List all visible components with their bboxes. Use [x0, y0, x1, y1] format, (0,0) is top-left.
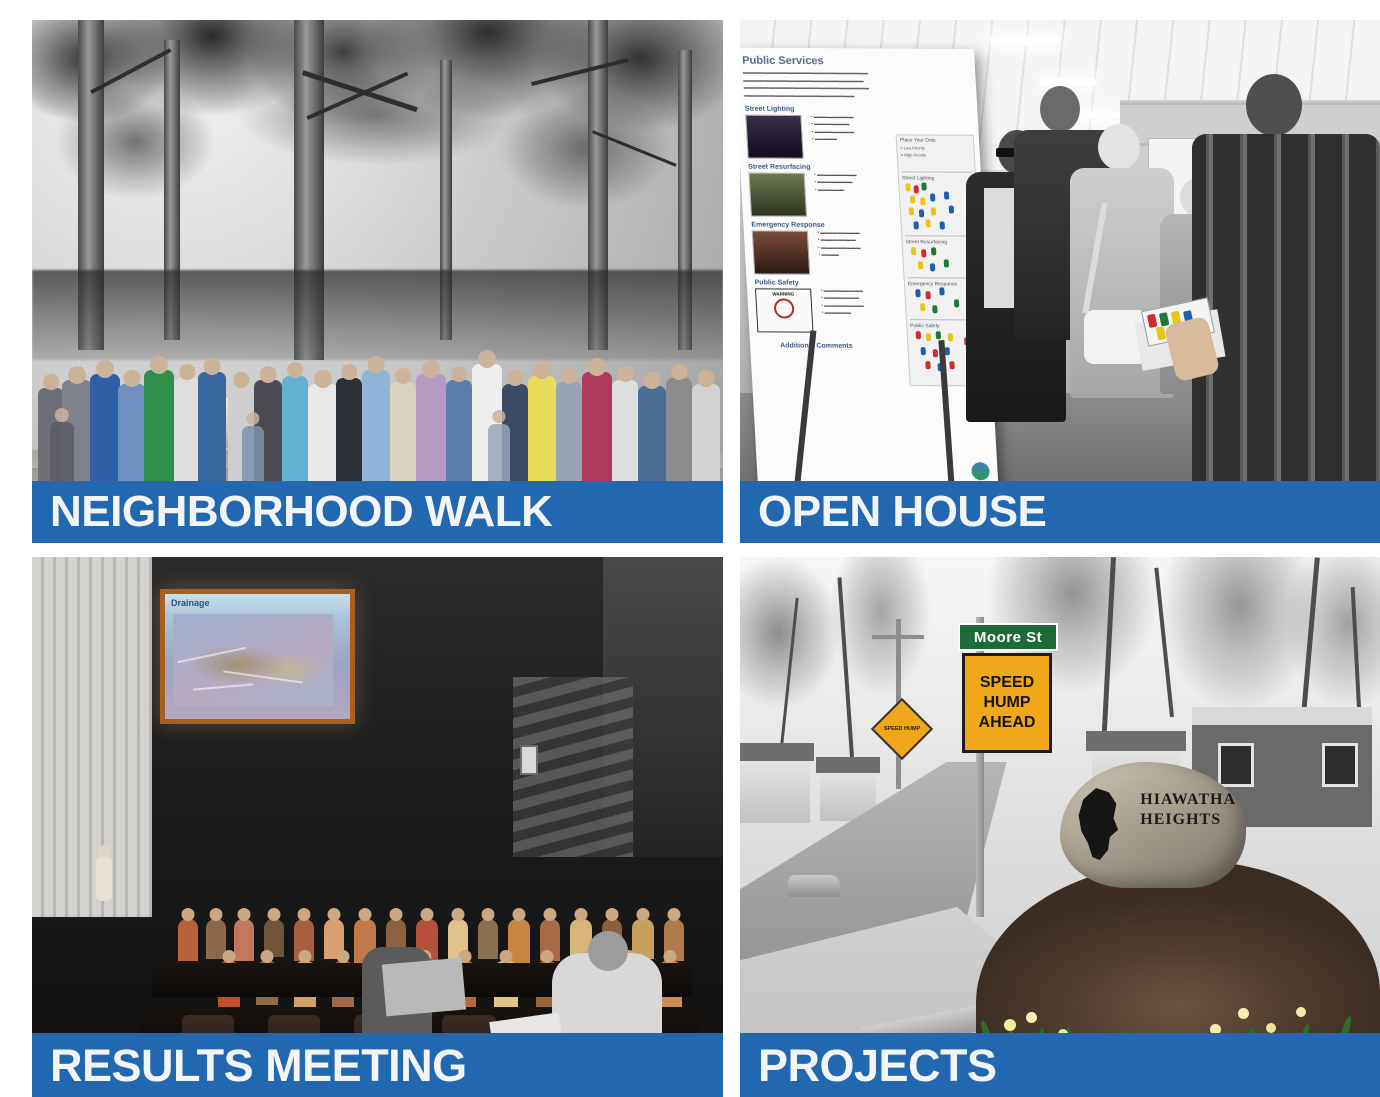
crowd-of-residents	[32, 316, 723, 496]
vote-dot	[933, 349, 938, 357]
audience-member	[178, 919, 198, 961]
window	[1218, 743, 1254, 787]
photo-neighborhood-walk	[32, 20, 723, 543]
house-roof	[1086, 731, 1186, 751]
caption-bar-neighborhood-walk: NEIGHBORHOOD WALK	[32, 481, 723, 543]
diamond-sign-label: SPEED HUMP	[882, 709, 922, 749]
caption-label: PROJECTS	[758, 1043, 997, 1088]
poster-title: Public Services	[742, 55, 975, 68]
house-roof	[816, 757, 880, 773]
vote-dot	[911, 247, 916, 255]
vote-dot	[932, 305, 937, 313]
section-thumbnail	[748, 173, 807, 217]
person	[582, 372, 612, 496]
vote-dot	[921, 347, 926, 355]
person	[666, 378, 692, 496]
map-line	[178, 647, 247, 664]
audience-member	[234, 919, 254, 961]
panel-neighborhood-walk[interactable]: NEIGHBORHOOD WALK	[32, 20, 723, 543]
person	[90, 374, 120, 496]
sign-line-1: SPEED	[980, 673, 1034, 693]
section-bullets: • ▬▬▬▬▬▬▬▬▬• ▬▬▬▬▬▬▬▬• ▬▬▬▬▬▬	[814, 171, 905, 194]
monument-inscription: HIAWATHA HEIGHTS	[1140, 790, 1236, 830]
vote-dot	[936, 331, 941, 339]
person	[556, 382, 582, 496]
divider	[905, 235, 975, 236]
panel-projects[interactable]: HIAWATHA HEIGHTS Moore St SPEED HUMP AHE…	[740, 557, 1380, 1097]
attendee-head	[1040, 86, 1080, 132]
caption-bar-projects: PROJECTS	[740, 1033, 1380, 1097]
sign-line-3: AHEAD	[979, 713, 1036, 733]
vote-dot	[931, 207, 936, 215]
vote-dot	[949, 206, 954, 214]
daffodil	[1026, 1012, 1037, 1023]
vote-dot	[925, 219, 930, 227]
section-thumbnail	[745, 115, 804, 159]
vote-dot	[913, 221, 918, 229]
sticker-red	[1147, 314, 1158, 328]
sticker-green	[1159, 312, 1170, 326]
divider	[902, 171, 972, 172]
handout-paper	[382, 958, 466, 1017]
vote-dot	[930, 193, 935, 201]
house	[740, 757, 810, 823]
monument-line-1: HIAWATHA	[1140, 790, 1236, 810]
section-bullets: • ▬▬▬▬▬▬▬▬▬• ▬▬▬▬▬▬▬▬• ▬▬▬▬▬▬▬▬▬• ▬▬▬▬▬	[811, 113, 903, 143]
native-american-profile-icon	[1074, 788, 1120, 860]
dot-legend-title: Place Your Dots	[900, 137, 973, 143]
ceiling-light	[1076, 112, 1120, 119]
person	[612, 380, 638, 496]
vote-dot	[909, 207, 914, 215]
foreground-attendee-head	[588, 931, 628, 971]
section-bullets: • ▬▬▬▬▬▬▬▬▬• ▬▬▬▬▬▬▬▬• ▬▬▬▬▬▬▬▬▬• ▬▬▬▬	[817, 229, 909, 259]
vote-dot	[931, 247, 936, 255]
map-line	[193, 683, 253, 690]
street-name-sign: Moore St	[958, 623, 1058, 651]
vote-dot	[939, 287, 944, 295]
vote-dot	[916, 331, 921, 339]
wall-panel	[520, 745, 538, 775]
projection-screen: Drainage	[165, 594, 350, 719]
photo-projects: HIAWATHA HEIGHTS Moore St SPEED HUMP AHE…	[740, 557, 1380, 1097]
speed-hump-ahead-sign: SPEED HUMP AHEAD	[962, 653, 1052, 753]
person	[638, 386, 666, 496]
photo-open-house: Public Services ▬▬▬▬▬▬▬▬▬▬▬▬▬▬▬▬▬▬▬▬▬▬▬▬…	[740, 20, 1380, 543]
parked-car	[788, 875, 840, 897]
slide-map-graphic	[173, 614, 333, 706]
monument-line-2: HEIGHTS	[1140, 810, 1236, 830]
dot-row-label: Street Resurfacing	[905, 239, 947, 245]
vote-dot	[954, 299, 959, 307]
slide-title: Drainage	[171, 598, 210, 608]
section-thumbnail	[752, 230, 811, 274]
panel-open-house[interactable]: Public Services ▬▬▬▬▬▬▬▬▬▬▬▬▬▬▬▬▬▬▬▬▬▬▬▬…	[740, 20, 1380, 543]
vote-dot	[910, 195, 915, 203]
dot-row-label: Public Safety	[910, 323, 940, 329]
person	[528, 376, 556, 496]
daffodil	[1238, 1008, 1249, 1019]
vote-dot	[944, 192, 949, 200]
attendee-head	[1246, 74, 1302, 136]
person	[308, 384, 338, 496]
house-roof	[740, 743, 814, 761]
ceiling-light	[990, 36, 1060, 45]
audience-member	[478, 919, 498, 959]
vote-dot	[915, 289, 920, 297]
window	[1322, 743, 1358, 787]
agency-logo	[971, 462, 990, 480]
person	[144, 370, 174, 496]
daffodil	[1266, 1023, 1276, 1033]
ceiling-light	[1040, 78, 1096, 86]
attendee-head	[1098, 124, 1140, 170]
daffodil	[1296, 1007, 1306, 1017]
person	[118, 384, 146, 496]
person	[692, 384, 720, 496]
utility-crossarm	[872, 635, 924, 639]
vote-dot	[921, 249, 926, 257]
dot-row-label: Emergency Response	[908, 281, 958, 287]
dot-legend-low: = Low Priority	[900, 145, 973, 150]
map-line	[223, 670, 302, 683]
person	[198, 372, 226, 496]
caption-label: RESULTS MEETING	[50, 1043, 467, 1088]
person	[282, 376, 308, 496]
person	[362, 370, 390, 496]
panel-results-meeting[interactable]: Drainage	[32, 557, 723, 1097]
photo-results-meeting: Drainage	[32, 557, 723, 1097]
caption-label: NEIGHBORHOOD WALK	[50, 490, 552, 534]
vote-dot	[925, 291, 930, 299]
warning-sign-thumbnail: WARNING	[755, 288, 814, 332]
caption-label: OPEN HOUSE	[758, 490, 1046, 534]
vote-dot	[913, 185, 918, 193]
caption-bar-results-meeting: RESULTS MEETING	[32, 1033, 723, 1097]
vote-dot	[940, 221, 945, 229]
daffodil	[1004, 1019, 1016, 1031]
person	[174, 378, 200, 496]
dot-row-label: Street Lighting	[902, 175, 935, 181]
caption-bar-open-house: OPEN HOUSE	[740, 481, 1380, 543]
sign-line-2: HUMP	[983, 693, 1030, 713]
vote-dot	[949, 361, 954, 369]
vote-dot	[925, 361, 930, 369]
vote-dot	[918, 261, 923, 269]
person	[390, 382, 416, 496]
poster-body-text: ▬▬▬▬▬▬▬▬▬▬▬▬▬▬▬▬▬▬▬▬▬▬▬▬▬ ▬▬▬▬▬▬▬▬▬▬▬▬▬▬…	[743, 70, 967, 101]
vote-dot	[905, 183, 910, 191]
dot-legend-high: = High Priority	[901, 152, 974, 157]
prohibition-icon	[774, 298, 795, 318]
projection-screen-frame: Drainage	[160, 589, 355, 724]
vote-dot	[930, 263, 935, 271]
person	[446, 380, 472, 496]
vote-dot	[921, 182, 926, 190]
vote-dot	[920, 197, 925, 205]
section-bullets: • ▬▬▬▬▬▬▬▬▬• ▬▬▬▬▬▬▬▬• ▬▬▬▬▬▬▬▬▬• ▬▬▬▬▬▬	[820, 287, 912, 317]
vote-dot	[920, 303, 925, 311]
warning-label: WARNING	[756, 291, 810, 296]
vote-dot	[944, 259, 949, 267]
vote-dot	[919, 209, 924, 217]
person	[336, 378, 362, 496]
person	[416, 374, 446, 496]
vote-dot	[926, 333, 931, 341]
presentation-board: Public Services ▬▬▬▬▬▬▬▬▬▬▬▬▬▬▬▬▬▬▬▬▬▬▬▬…	[740, 48, 999, 489]
vote-dot	[948, 333, 953, 341]
photo-collage-board: NEIGHBORHOOD WALK Public Services ▬▬▬▬▬▬…	[0, 0, 1380, 1097]
